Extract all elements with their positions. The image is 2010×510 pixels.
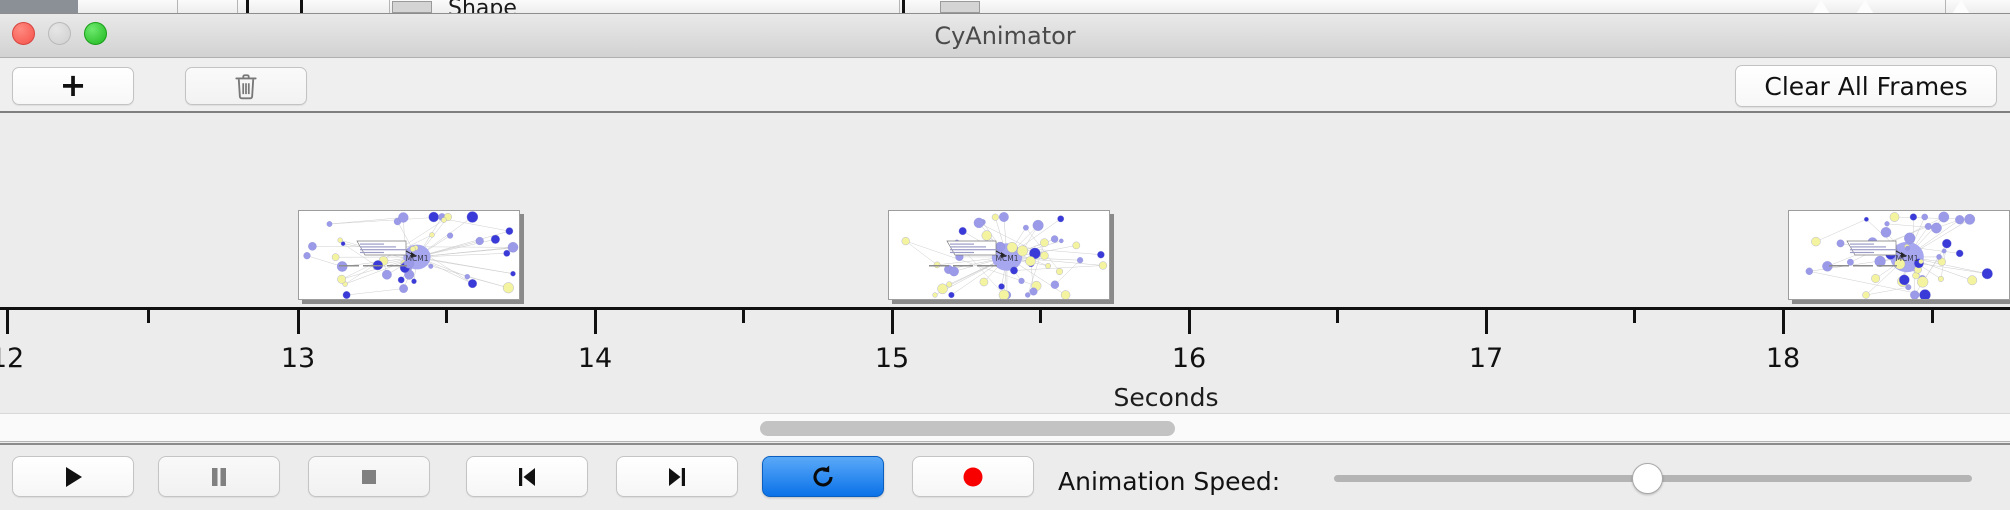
timeline-ruler[interactable]: 12131415161718 Seconds	[0, 305, 2010, 410]
loop-refresh-icon	[809, 463, 837, 491]
ruler-tick	[1931, 309, 1934, 323]
record-dot-icon	[960, 464, 986, 490]
ruler-tick	[6, 309, 9, 334]
clear-all-frames-button[interactable]: Clear All Frames	[1735, 65, 1997, 107]
ruler-tick	[445, 309, 448, 323]
ruler-tick-label: 12	[0, 343, 24, 374]
ruler-tick	[742, 309, 745, 323]
plus-icon: +	[60, 73, 87, 99]
window-title: CyAnimator	[0, 14, 2010, 58]
skip-to-start-button[interactable]	[466, 456, 588, 497]
skip-to-end-button[interactable]	[616, 456, 738, 497]
pause-button[interactable]	[158, 456, 280, 497]
svg-text:MCM1: MCM1	[1896, 254, 1919, 263]
record-button[interactable]	[912, 456, 1034, 497]
playback-control-bar: Animation Speed:	[0, 443, 2010, 510]
ruler-tick	[1633, 309, 1636, 323]
svg-text:MCM1: MCM1	[996, 254, 1019, 263]
ruler-baseline	[0, 307, 2010, 310]
ruler-tick-label: 13	[281, 343, 315, 374]
ruler-tick-label: 15	[875, 343, 909, 374]
horizontal-scrollbar-thumb[interactable]	[760, 421, 1175, 436]
horizontal-scrollbar-track[interactable]	[0, 413, 2010, 442]
svg-text:MCM1: MCM1	[406, 254, 429, 263]
ruler-tick	[1336, 309, 1339, 323]
play-button[interactable]	[12, 456, 134, 497]
ruler-tick-label: 16	[1172, 343, 1206, 374]
ruler-tick-label: 18	[1766, 343, 1800, 374]
animation-speed-label: Animation Speed:	[1058, 467, 1280, 496]
background-window-strip: Shape	[0, 0, 2010, 14]
ruler-tick	[1039, 309, 1042, 323]
loop-button[interactable]	[762, 456, 884, 497]
title-bar: CyAnimator	[0, 14, 2010, 58]
ruler-tick	[1188, 309, 1191, 334]
ruler-tick	[594, 309, 597, 334]
add-frame-button[interactable]: +	[12, 67, 134, 105]
background-window-label: Shape	[448, 0, 517, 14]
skip-backward-icon	[514, 464, 540, 490]
animation-speed-slider-thumb[interactable]	[1632, 463, 1663, 494]
trash-icon	[233, 72, 259, 100]
pause-icon	[207, 464, 231, 490]
ruler-tick	[1485, 309, 1488, 334]
ruler-tick	[1782, 309, 1785, 334]
ruler-tick-label: 14	[578, 343, 612, 374]
ruler-tick	[297, 309, 300, 334]
stop-icon	[357, 465, 381, 489]
frames-panel[interactable]: MCM1 MCM1 MCM1	[0, 113, 2010, 305]
frame-thumbnail-2[interactable]: MCM1	[888, 210, 1110, 300]
ruler-tick	[147, 309, 150, 323]
ruler-tick-label: 17	[1469, 343, 1503, 374]
ruler-tick	[891, 309, 894, 334]
skip-forward-icon	[664, 464, 690, 490]
toolbar: + Clear All Frames	[0, 58, 2010, 113]
stop-button[interactable]	[308, 456, 430, 497]
frame-thumbnail-3[interactable]: MCM1	[1788, 210, 2010, 300]
play-icon	[60, 464, 86, 490]
cyanimator-window: Shape CyAnimator + Clear All Frames	[0, 0, 2010, 510]
frame-thumbnail-1[interactable]: MCM1	[298, 210, 520, 300]
axis-title: Seconds	[1113, 383, 1218, 412]
background-window-dark-segment	[0, 0, 78, 14]
delete-frame-button[interactable]	[185, 67, 307, 105]
